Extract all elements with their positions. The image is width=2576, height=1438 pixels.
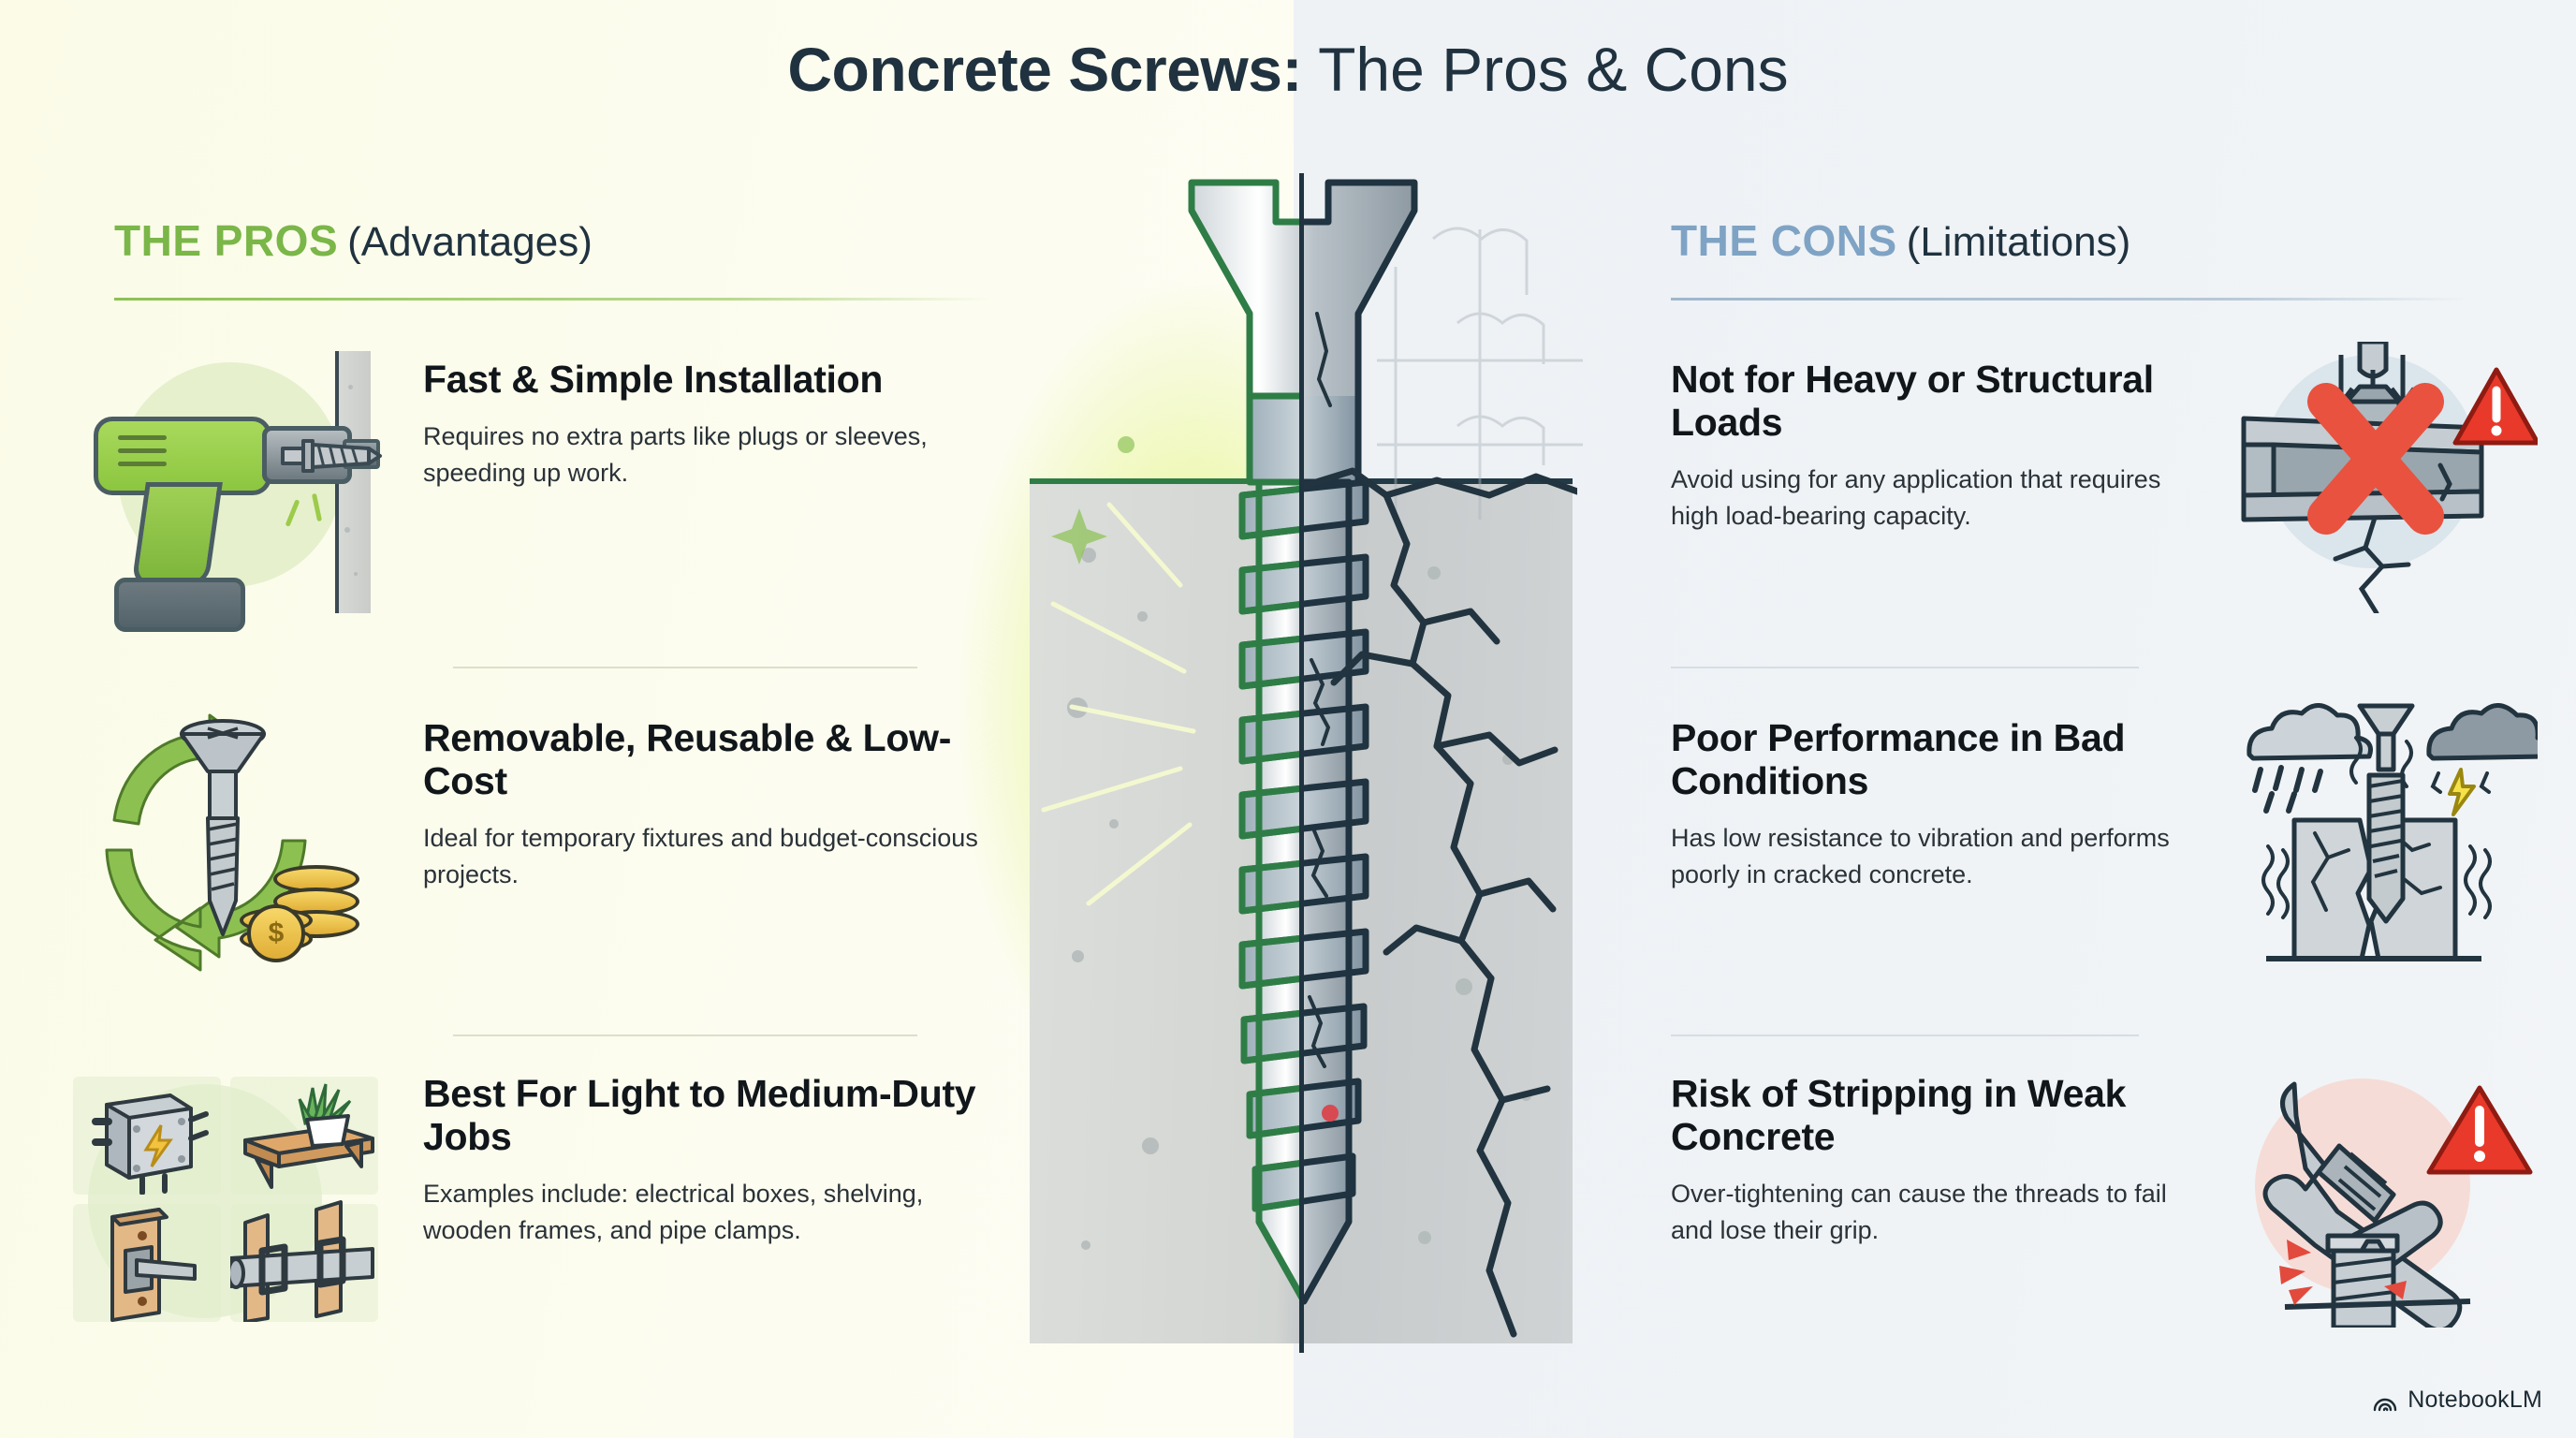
cons-item-2-desc: Has low resistance to vibration and perf… <box>1671 820 2199 893</box>
pros-item-2-desc: Ideal for temporary fixtures and budget-… <box>423 820 1002 893</box>
recycle-arrows-screw-coins-icon: $ <box>56 700 402 981</box>
cons-item-3: Risk of Stripping in Weak Concrete Over-… <box>1671 1056 2532 1328</box>
storm-cloud-icon <box>2429 705 2538 758</box>
pros-item-3-desc: Examples include: electrical boxes, shel… <box>423 1176 1002 1249</box>
pros-item-1-desc: Requires no extra parts like plugs or sl… <box>423 418 1002 492</box>
title-strong: Concrete Screws: <box>787 35 1302 104</box>
cons-item-1-desc: Avoid using for any application that req… <box>1671 462 2199 535</box>
concrete-cracks <box>1296 454 1577 1353</box>
page-title: Concrete Screws: The Pros & Cons <box>0 36 2576 104</box>
cons-heading: THE CONS(Limitations) <box>1671 215 2130 266</box>
cons-item-2-title: Poor Performance in Bad Conditions <box>1671 717 2199 803</box>
sparkle-icon <box>1051 508 1107 565</box>
pros-item-1-title: Fast & Simple Installation <box>423 359 1002 402</box>
warning-triangle-icon <box>2455 370 2538 443</box>
cons-subtitle: (Limitations) <box>1907 219 2131 265</box>
infographic-canvas: Concrete Screws: The Pros & Cons THE PRO… <box>0 0 2576 1438</box>
lightning-icon <box>2433 770 2489 814</box>
cons-item-3-title: Risk of Stripping in Weak Concrete <box>1671 1073 2199 1159</box>
cons-divider-2 <box>1671 1034 2139 1036</box>
pros-item-3: Best For Light to Medium-Duty Jobs Examp… <box>56 1056 1002 1337</box>
electrical-box-icon <box>88 1084 210 1195</box>
shelf-with-plant-icon <box>234 1078 376 1195</box>
pros-item-2-title: Removable, Reusable & Low-Cost <box>423 717 1002 803</box>
cons-divider-1 <box>1671 667 2139 668</box>
center-split-line <box>1299 173 1304 1353</box>
watermark-label: NotebookLM <box>2408 1387 2542 1414</box>
cons-item-3-desc: Over-tightening can cause the threads to… <box>1671 1176 2199 1249</box>
steel-beam-red-cross-warning-icon <box>2223 342 2532 613</box>
cons-rule <box>1671 298 2471 301</box>
pros-item-3-title: Best For Light to Medium-Duty Jobs <box>423 1073 1002 1159</box>
cons-item-1-title: Not for Heavy or Structural Loads <box>1671 359 2199 445</box>
door-handle-icon <box>94 1208 215 1322</box>
light-duty-applications-grid-icon <box>56 1056 402 1337</box>
pros-divider-2 <box>453 1034 917 1036</box>
notebooklm-watermark: NotebookLM <box>2372 1387 2542 1414</box>
rain-cloud-icon <box>2249 705 2371 811</box>
rain-storm-cracked-concrete-icon <box>2223 700 2532 972</box>
pros-kicker: THE PROS <box>114 216 338 265</box>
pros-heading: THE PROS(Advantages) <box>114 215 593 266</box>
screw-icon <box>2360 706 2412 921</box>
pros-item-1: Fast & Simple Installation Requires no e… <box>56 342 1002 623</box>
cons-item-1: Not for Heavy or Structural Loads Avoid … <box>1671 342 2532 613</box>
dollar-sign-icon: $ <box>247 904 305 962</box>
pros-rule <box>114 298 992 301</box>
wrench-stripped-screw-warning-icon <box>2223 1056 2532 1328</box>
pros-item-2: $ Removable, Reusable & Low-Cost Ideal f… <box>56 700 1002 981</box>
pros-subtitle: (Advantages) <box>347 219 593 265</box>
title-light: The Pros & Cons <box>1302 35 1789 104</box>
pipe-clamp-icon <box>230 1200 378 1322</box>
cons-kicker: THE CONS <box>1671 216 1897 265</box>
cons-item-2: Poor Performance in Bad Conditions Has l… <box>1671 700 2532 972</box>
plant-pot-icon <box>307 1116 348 1146</box>
split-view-screw-in-concrete <box>1016 173 1587 1353</box>
warning-triangle-icon <box>2429 1088 2530 1172</box>
pros-divider-1 <box>453 667 917 668</box>
notebooklm-spiral-icon <box>2372 1387 2398 1414</box>
drill-driving-screw-into-wall-icon <box>56 342 402 623</box>
